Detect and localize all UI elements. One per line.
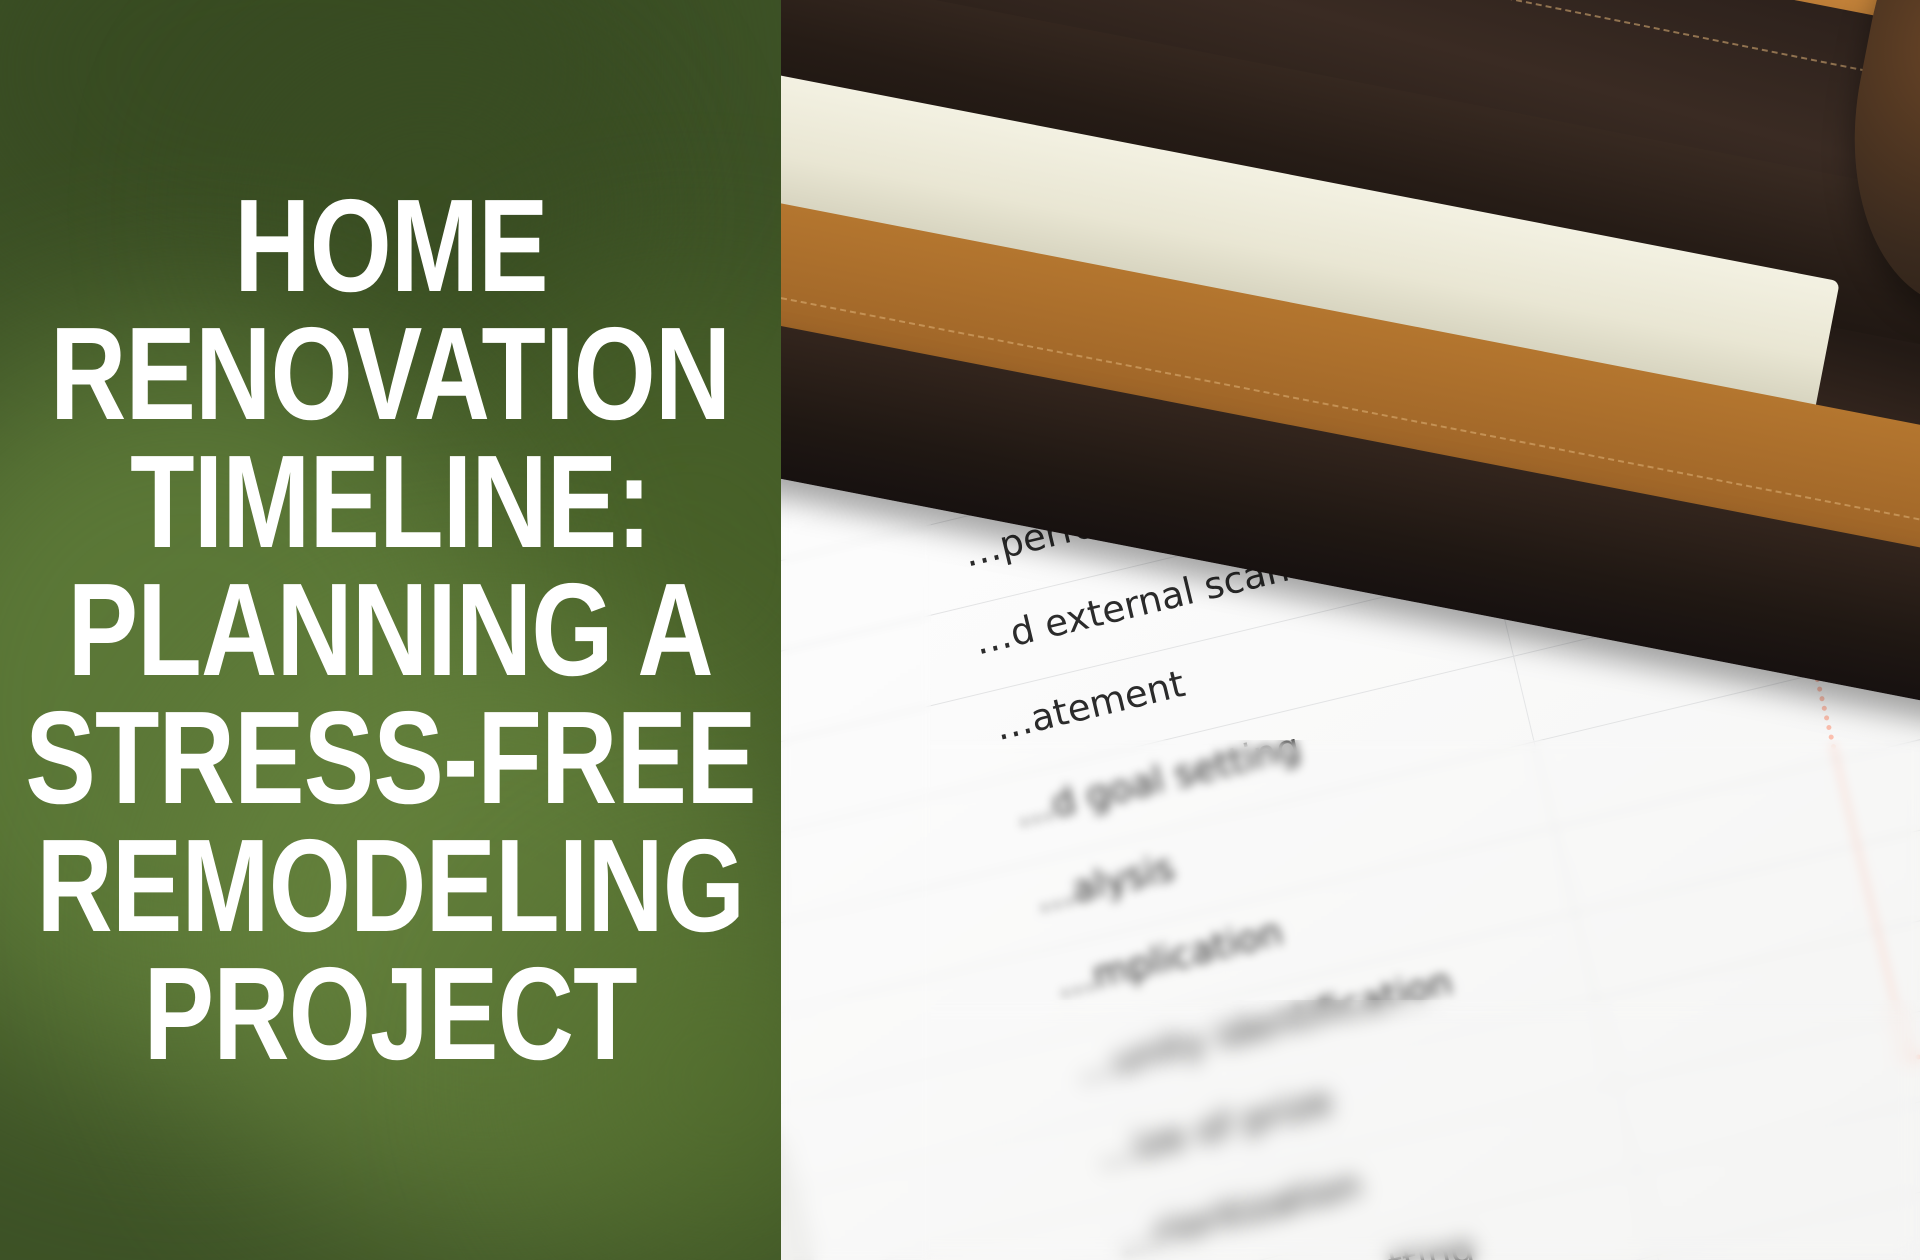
planner-gantt-photo: January …performance …d external scan …a… <box>781 0 1920 1260</box>
poster-canvas: January …performance …d external scan …a… <box>0 0 1920 1260</box>
title-line-4: PLANNING A <box>68 566 713 694</box>
page-title: HOME RENOVATION TIMELINE: PLANNING A STR… <box>0 0 781 1260</box>
title-panel: HOME RENOVATION TIMELINE: PLANNING A STR… <box>0 0 781 1260</box>
title-line-1: HOME <box>234 182 548 310</box>
gantt-task-label: …rioritization <box>1114 1163 1366 1260</box>
gantt-task-label: …mplication <box>1052 910 1287 1006</box>
title-line-5: STRESS-FREE <box>25 694 756 822</box>
title-line-3: TIMELINE: <box>130 438 651 566</box>
title-line-6: REMODELING <box>37 822 745 950</box>
gantt-task-label: …atement <box>991 662 1189 749</box>
gantt-task-label: …ize of prize <box>1093 1079 1336 1177</box>
critical-path-faint <box>1805 638 1910 1057</box>
title-line-2: RENOVATION <box>50 310 730 438</box>
title-line-7: PROJECT <box>144 950 637 1078</box>
